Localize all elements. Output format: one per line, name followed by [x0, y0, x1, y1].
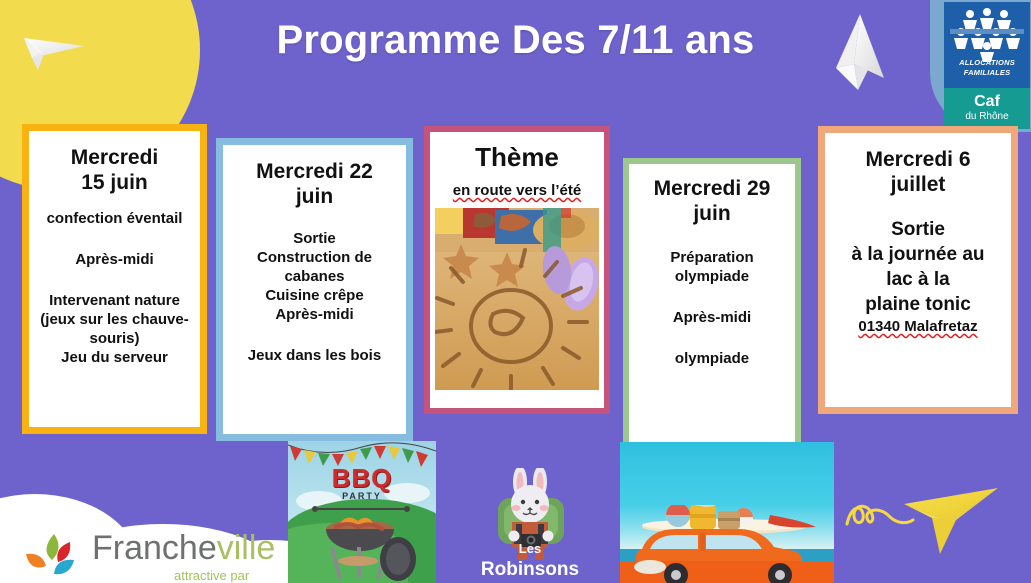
caf-logo: ALLOCATIONS FAMILIALES Caf du Rhône — [944, 2, 1030, 129]
card-heading: Mercredi 6 juillet — [825, 147, 1011, 197]
program-card-mercredi-29-juin[interactable]: Mercredi 29 juin Préparation olympiade A… — [623, 158, 801, 450]
poster-canvas: Programme Des 7/11 ans ALLOCATIONS — [0, 0, 1031, 583]
card-address-text: 01340 Malafretaz — [858, 318, 977, 335]
theme-subtitle: en route vers l’été — [453, 182, 581, 200]
program-card-theme[interactable]: Thème en route vers l’été — [424, 126, 610, 414]
program-card-mercredi-15-juin[interactable]: Mercredi 15 juin confection éventail Apr… — [22, 124, 207, 434]
card-heading-line: juin — [296, 185, 333, 208]
bbq-party-image: BBQ PARTY — [288, 441, 436, 583]
robinsons-prefix: Les — [519, 541, 541, 556]
card-line: confection éventail — [29, 209, 200, 228]
card-line: Sortie — [223, 229, 406, 248]
paper-plane-white-left-icon — [14, 18, 92, 78]
card-heading: Mercredi 22 juin — [223, 159, 406, 209]
card-line: cabanes — [223, 267, 406, 286]
card-line: Après-midi — [629, 308, 795, 327]
card-line: lac à la — [825, 267, 1011, 292]
card-heading-line: juin — [693, 202, 730, 225]
card-heading-line: 15 juin — [81, 171, 148, 194]
card-heading: Mercredi 15 juin — [29, 145, 200, 195]
card-line: (jeux sur les chauve- — [29, 310, 200, 329]
caf-brand: Caf — [944, 88, 1030, 111]
francheville-name-dark: Franche — [92, 529, 217, 567]
bbq-title: BBQ — [288, 463, 436, 494]
caf-line-1: ALLOCATIONS — [944, 58, 1030, 68]
card-line: olympiade — [629, 267, 795, 286]
caf-region: du Rhône — [944, 111, 1030, 123]
card-line: souris) — [29, 329, 200, 348]
leaf-logo-icon — [24, 532, 86, 582]
card-heading-line: juillet — [891, 173, 946, 196]
card-line: Jeu du serveur — [29, 348, 200, 367]
card-line: Préparation — [629, 248, 795, 267]
theme-subtitle-text: en route vers l’été — [453, 182, 581, 199]
bbq-subtitle: PARTY — [288, 491, 436, 501]
paper-plane-yellow-icon — [898, 470, 1024, 570]
card-line: Jeux dans les bois — [223, 346, 406, 365]
francheville-logo: Francheville attractive par nature — [24, 528, 284, 583]
robinsons-name: Robinsons — [481, 559, 579, 580]
card-line: Intervenant nature — [29, 291, 200, 310]
caf-family-icon — [944, 6, 1030, 62]
caf-logo-bottom: Caf du Rhône — [944, 88, 1030, 129]
card-line: à la journée au — [825, 242, 1011, 267]
paper-plane-white-right-icon — [824, 8, 902, 98]
squiggle-trail-decoration — [845, 494, 915, 534]
grill-icon — [310, 501, 420, 583]
card-address: 01340 Malafretaz — [825, 317, 1011, 336]
card-line: Sortie — [825, 217, 1011, 242]
robinsons-logo: Les Robinsons — [470, 468, 590, 583]
car-with-luggage-icon — [620, 505, 834, 583]
card-line: Après-midi — [223, 305, 406, 324]
francheville-wordmark: Francheville — [92, 528, 275, 568]
theme-heading: Thème — [475, 142, 559, 172]
card-heading-line: Mercredi — [71, 146, 159, 169]
program-card-mercredi-6-juillet[interactable]: Mercredi 6 juillet Sortie à la journée a… — [818, 126, 1018, 414]
card-heading-line: Mercredi 29 — [654, 177, 771, 200]
beach-car-image — [620, 442, 834, 583]
card-heading-line: Mercredi 22 — [256, 160, 373, 183]
caf-line-2: FAMILIALES — [944, 68, 1030, 78]
card-line: Construction de — [223, 248, 406, 267]
card-line: plaine tonic — [825, 292, 1011, 317]
card-heading-line: Mercredi 6 — [865, 148, 970, 171]
theme-photo — [435, 208, 599, 390]
caf-logo-label: ALLOCATIONS FAMILIALES — [944, 58, 1030, 77]
card-line: olympiade — [629, 349, 795, 368]
card-heading: Mercredi 29 juin — [629, 176, 795, 226]
francheville-name-light: ville — [217, 529, 276, 567]
francheville-tagline: attractive par nature — [174, 568, 284, 583]
robinsons-label: Les Robinsons — [470, 537, 590, 581]
card-line: Après-midi — [29, 250, 200, 269]
card-line: Cuisine crêpe — [223, 286, 406, 305]
program-card-mercredi-22-juin[interactable]: Mercredi 22 juin Sortie Construction de … — [216, 138, 413, 441]
